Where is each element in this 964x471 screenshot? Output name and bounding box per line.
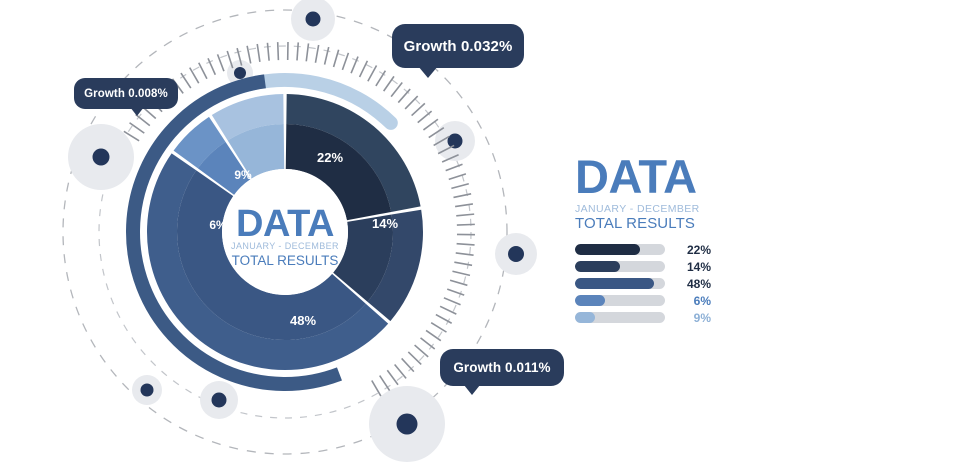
summary-bar-label: 14%: [673, 260, 711, 274]
tick-mark: [297, 42, 298, 60]
tick-mark: [451, 184, 468, 189]
tick-mark: [199, 63, 207, 79]
tick-mark: [423, 119, 437, 130]
tick-mark: [457, 224, 475, 225]
summary-bar-row: 22%: [575, 243, 725, 257]
callout-growth-011[interactable]: Growth 0.011%: [440, 349, 564, 386]
summary-bar-fill: [575, 295, 605, 306]
tick-mark: [267, 43, 269, 61]
tick-mark: [446, 164, 463, 170]
callout-growth-008-label: Growth 0.008%: [84, 88, 168, 100]
infographic-canvas: 22% 14% 48% 6% 9% DATA JANUARY - DECEMBE…: [0, 0, 964, 471]
summary-bar-fill: [575, 261, 620, 272]
tick-mark: [415, 345, 429, 357]
summary-bar-row: 6%: [575, 294, 725, 308]
tick-mark: [454, 262, 472, 265]
tick-mark: [456, 253, 474, 255]
callout-growth-008[interactable]: Growth 0.008%: [74, 78, 178, 109]
tick-mark: [444, 298, 461, 305]
summary-bar-row: 9%: [575, 311, 725, 325]
tick-mark: [398, 89, 410, 103]
orbit-node-top[interactable]: [291, 0, 335, 41]
summary-bar-track: [575, 261, 665, 272]
summary-bar-fill: [575, 244, 640, 255]
tick-mark: [395, 365, 406, 379]
donut-label-14: 14%: [372, 216, 398, 231]
tick-mark: [453, 194, 471, 198]
orbit-node-bottom[interactable]: [369, 386, 445, 462]
tick-mark: [257, 44, 260, 62]
donut-label-48: 48%: [290, 313, 316, 328]
tick-mark: [130, 123, 145, 133]
summary-bar-track: [575, 278, 665, 289]
donut-label-22: 22%: [317, 150, 343, 165]
callout-tail: [130, 107, 144, 116]
tick-mark: [278, 42, 279, 60]
tick-mark: [391, 82, 402, 96]
callout-tail: [418, 66, 438, 78]
tick-mark: [334, 50, 339, 67]
summary-bar-row: 48%: [575, 277, 725, 291]
summary-bar-track: [575, 244, 665, 255]
summary-title: DATA: [575, 155, 725, 200]
tick-mark: [408, 352, 421, 365]
orbit-node-right[interactable]: [495, 233, 537, 275]
callout-growth-032-label: Growth 0.032%: [404, 38, 513, 55]
tick-mark: [421, 338, 435, 349]
tick-mark: [384, 76, 394, 91]
tick-mark: [412, 103, 425, 115]
tick-mark: [387, 370, 398, 384]
radial-donut-chart: 22% 14% 48% 6% 9% DATA JANUARY - DECEMBE…: [0, 0, 964, 471]
donut-label-6: 6%: [209, 218, 227, 232]
tick-mark: [360, 61, 368, 77]
summary-bar-list: 22%14%48%6%9%: [575, 243, 725, 325]
donut-center-caption: TOTAL RESULTS: [232, 253, 339, 268]
donut-center-title: DATA: [236, 203, 334, 245]
tick-mark: [247, 46, 251, 64]
tick-mark: [325, 47, 329, 65]
summary-bar-label: 48%: [673, 277, 711, 291]
tick-mark: [306, 43, 308, 61]
callout-growth-011-label: Growth 0.011%: [453, 360, 550, 375]
tick-mark: [418, 111, 432, 122]
summary-bar-track: [575, 295, 665, 306]
tick-mark: [431, 323, 446, 332]
donut-center-subtitle: JANUARY - DECEMBER: [231, 241, 339, 251]
summary-caption: TOTAL RESULTS: [575, 215, 725, 234]
callout-growth-032[interactable]: Growth 0.032%: [392, 24, 524, 68]
orbit-node-upper-left[interactable]: [68, 124, 134, 190]
summary-subtitle: JANUARY - DECEMBER: [575, 204, 725, 216]
tick-mark: [456, 214, 474, 216]
summary-bar-fill: [575, 278, 654, 289]
summary-bar-track: [575, 312, 665, 323]
summary-bar-label: 6%: [673, 294, 711, 308]
callout-tail: [464, 385, 480, 395]
summary-panel: DATA JANUARY - DECEMBER TOTAL RESULTS 22…: [575, 155, 725, 328]
tick-mark: [447, 289, 464, 295]
tick-mark: [457, 244, 475, 245]
summary-bar-row: 14%: [575, 260, 725, 274]
summary-bar-label: 9%: [673, 311, 711, 325]
orbit-node-bottom-left[interactable]: [200, 381, 238, 419]
orbit-node-lower-left[interactable]: [132, 375, 162, 405]
summary-bar-fill: [575, 312, 595, 323]
tick-mark: [136, 115, 150, 126]
tick-mark: [426, 330, 441, 340]
tick-mark: [452, 271, 470, 275]
tick-mark: [402, 358, 414, 371]
donut-label-9: 9%: [234, 168, 252, 182]
tick-mark: [405, 96, 418, 109]
tick-mark: [315, 45, 318, 63]
summary-bar-label: 22%: [673, 243, 711, 257]
tick-mark: [455, 204, 473, 207]
